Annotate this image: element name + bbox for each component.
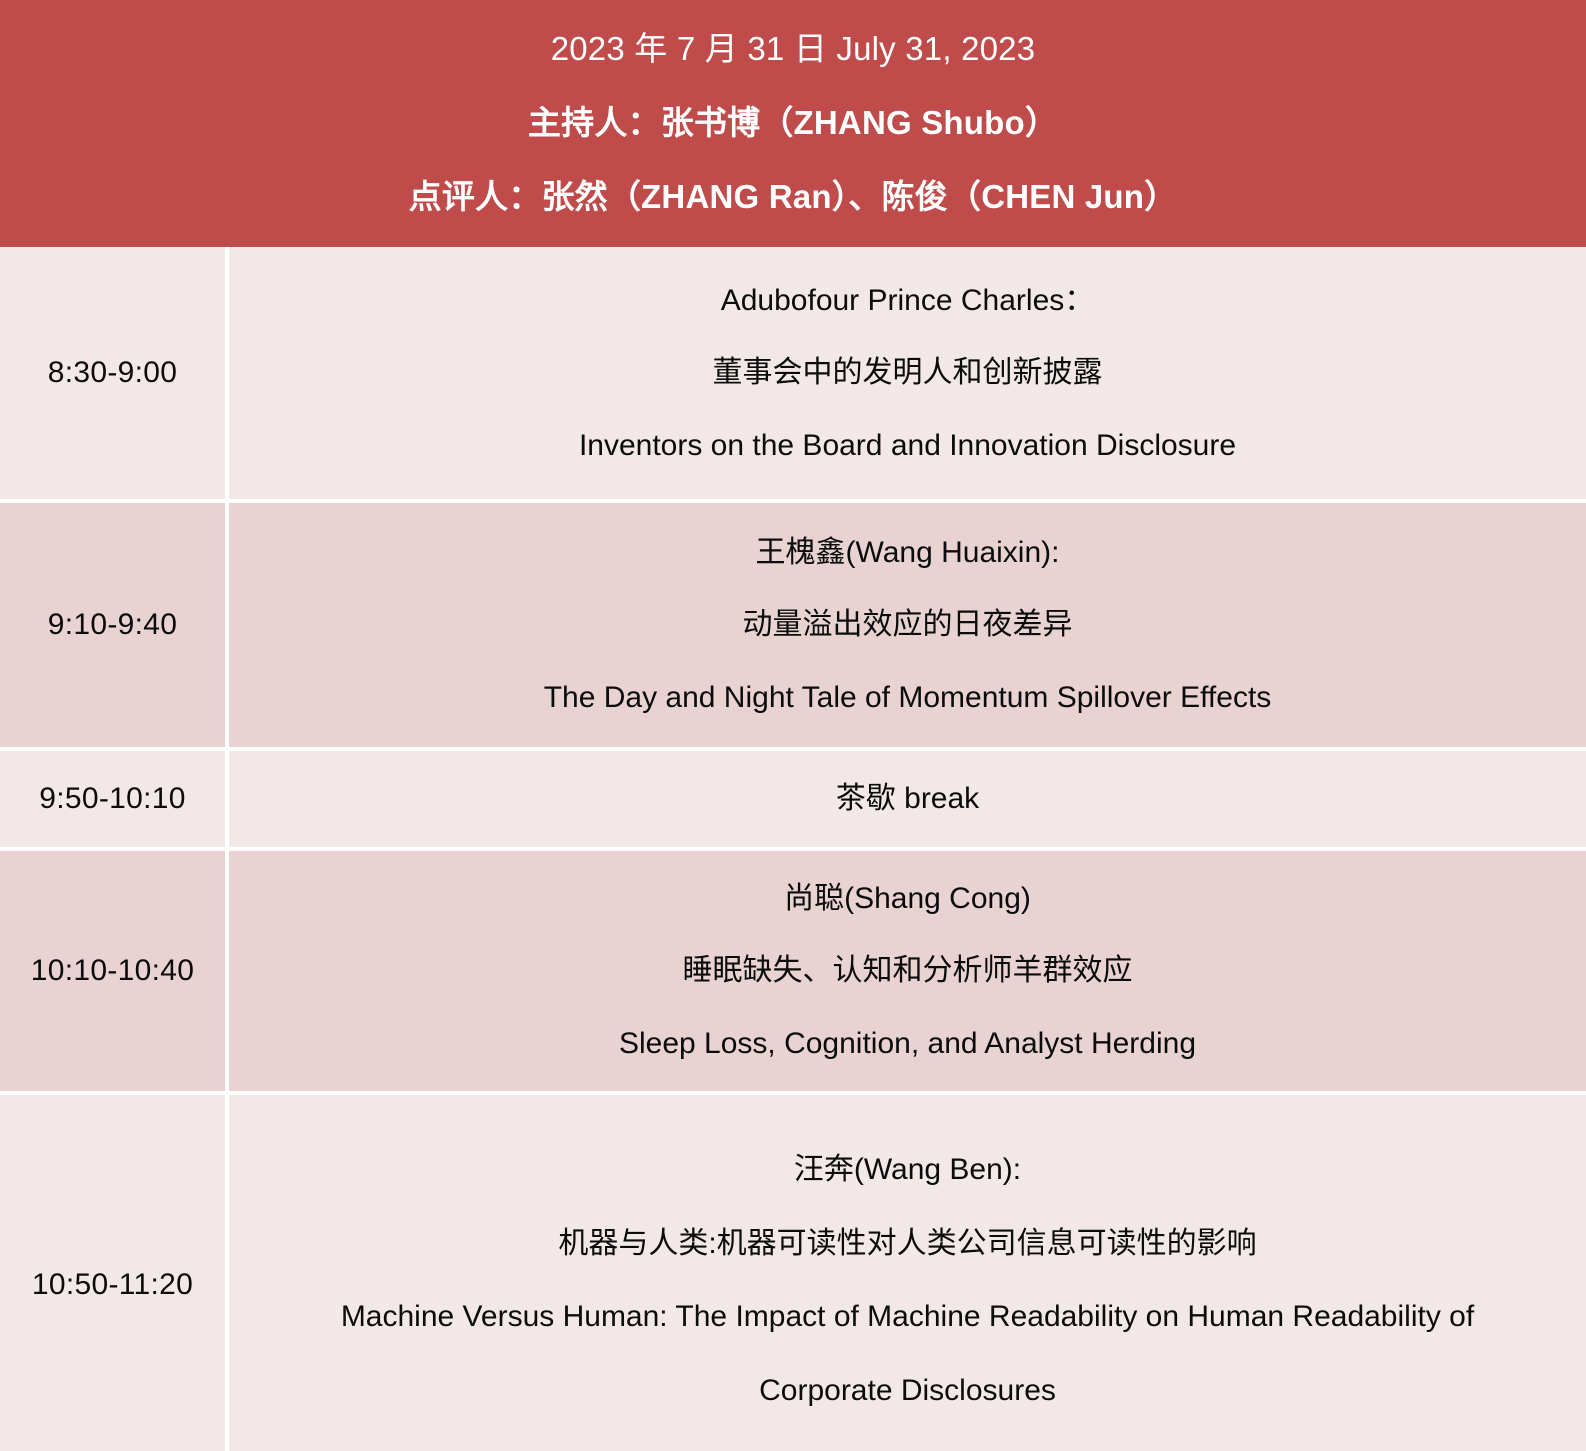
- session-title-en: Machine Versus Human: The Impact of Mach…: [341, 1301, 1474, 1333]
- session-title-en: Inventors on the Board and Innovation Di…: [579, 430, 1236, 462]
- session-presenter: 王槐鑫(Wang Huaixin):: [756, 537, 1060, 569]
- table-row: 9:50-10:10 茶歇 break: [0, 751, 1586, 851]
- session-content-cell: Adubofour Prince Charles： 董事会中的发明人和创新披露 …: [229, 247, 1586, 499]
- session-time-cell: 8:30-9:00: [0, 247, 229, 499]
- session-time-cell: 10:50-11:20: [0, 1095, 229, 1451]
- header-host-line: 主持人：张书博（ZHANG Shubo）: [528, 106, 1058, 139]
- table-row: 10:10-10:40 尚聪(Shang Cong) 睡眠缺失、认知和分析师羊群…: [0, 851, 1586, 1095]
- session-title-zh: 董事会中的发明人和创新披露: [713, 357, 1103, 389]
- session-content-cell: 尚聪(Shang Cong) 睡眠缺失、认知和分析师羊群效应 Sleep Los…: [229, 851, 1586, 1091]
- table-row: 10:50-11:20 汪奔(Wang Ben): 机器与人类:机器可读性对人类…: [0, 1095, 1586, 1451]
- session-time-cell: 9:10-9:40: [0, 503, 229, 747]
- session-presenter: Adubofour Prince Charles：: [721, 285, 1095, 317]
- schedule-header-banner: 2023 年 7 月 31 日 July 31, 2023 主持人：张书博（ZH…: [0, 0, 1586, 247]
- session-title-zh: 机器与人类:机器可读性对人类公司信息可读性的影响: [558, 1228, 1256, 1260]
- session-title-zh: 动量溢出效应的日夜差异: [743, 609, 1073, 641]
- session-time-cell: 9:50-10:10: [0, 751, 229, 847]
- header-discussant-line: 点评人：张然（ZHANG Ran）、陈俊（CHEN Jun）: [409, 180, 1178, 213]
- table-row: 8:30-9:00 Adubofour Prince Charles： 董事会中…: [0, 247, 1586, 503]
- table-row: 9:10-9:40 王槐鑫(Wang Huaixin): 动量溢出效应的日夜差异…: [0, 503, 1586, 751]
- session-time-cell: 10:10-10:40: [0, 851, 229, 1091]
- session-presenter: 尚聪(Shang Cong): [784, 883, 1031, 915]
- header-date-line: 2023 年 7 月 31 日 July 31, 2023: [551, 32, 1036, 65]
- break-label: 茶歇 break: [836, 783, 979, 815]
- conference-schedule-table: 2023 年 7 月 31 日 July 31, 2023 主持人：张书博（ZH…: [0, 0, 1586, 1451]
- session-content-cell: 汪奔(Wang Ben): 机器与人类:机器可读性对人类公司信息可读性的影响 M…: [229, 1095, 1586, 1451]
- session-content-cell: 王槐鑫(Wang Huaixin): 动量溢出效应的日夜差异 The Day a…: [229, 503, 1586, 747]
- session-title-zh: 睡眠缺失、认知和分析师羊群效应: [683, 955, 1133, 987]
- session-content-cell: 茶歇 break: [229, 751, 1586, 847]
- session-presenter: 汪奔(Wang Ben):: [794, 1154, 1021, 1186]
- schedule-rows: 8:30-9:00 Adubofour Prince Charles： 董事会中…: [0, 247, 1586, 1451]
- session-title-en: The Day and Night Tale of Momentum Spill…: [544, 682, 1272, 714]
- session-title-en-continued: Corporate Disclosures: [759, 1375, 1056, 1407]
- session-title-en: Sleep Loss, Cognition, and Analyst Herdi…: [619, 1028, 1196, 1060]
